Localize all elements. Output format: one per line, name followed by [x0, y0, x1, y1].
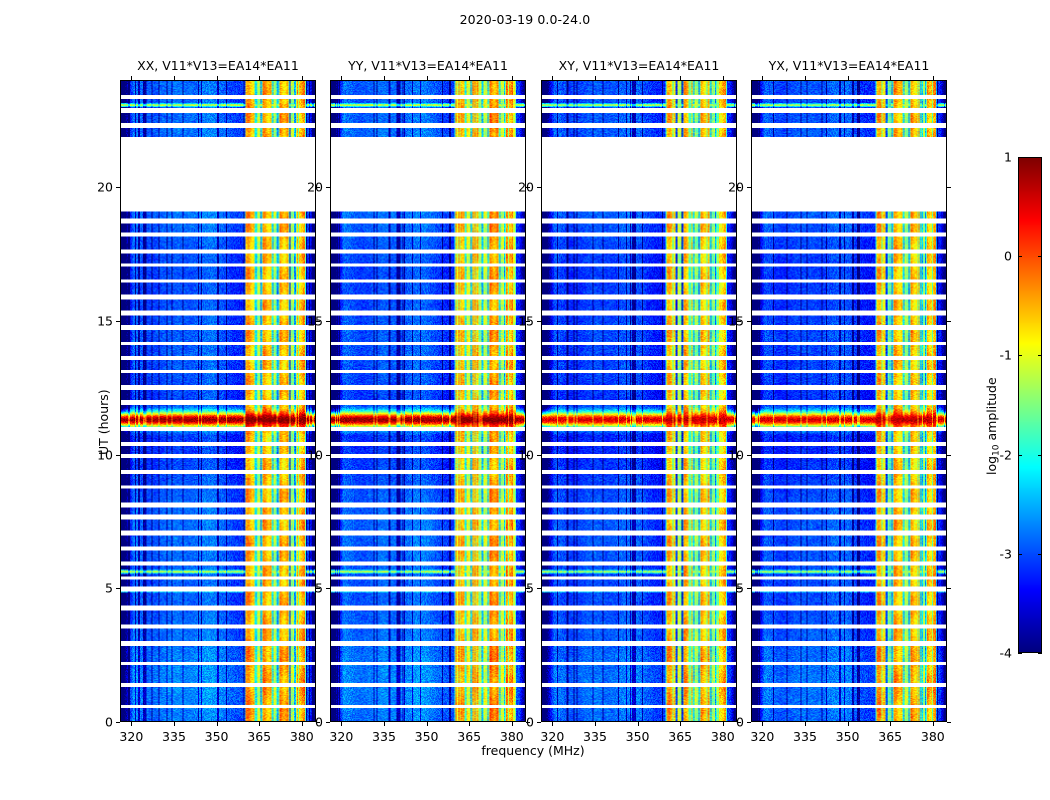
y-tick-mark: [116, 187, 120, 188]
figure-suptitle: 2020-03-19 0.0-24.0: [0, 12, 1050, 27]
x-tick-mark-top: [552, 76, 553, 80]
x-tick-mark-top: [933, 76, 934, 80]
x-tick-mark-top: [469, 76, 470, 80]
y-tick-mark: [326, 321, 330, 322]
x-tick-label: 365: [668, 729, 692, 744]
y-tick-mark: [537, 455, 541, 456]
x-tick-label: 350: [836, 729, 860, 744]
waterfall-image-yx: [752, 81, 946, 721]
colorbar-tick-label: 1: [982, 150, 1012, 165]
y-tick-mark: [116, 321, 120, 322]
x-tick-mark-top: [762, 76, 763, 80]
waterfall-image-xy: [542, 81, 736, 721]
x-tick-mark: [217, 722, 218, 726]
panel-title-yx: YX, V11*V13=EA14*EA11: [751, 58, 947, 73]
x-tick-mark: [552, 722, 553, 726]
y-tick-label: 15: [284, 313, 323, 328]
y-tick-mark: [116, 722, 120, 723]
x-tick-mark: [848, 722, 849, 726]
x-tick-label: 350: [626, 729, 650, 744]
colorbar-tick-label: -3: [982, 546, 1012, 561]
y-tick-label: 0: [495, 715, 534, 730]
x-tick-mark-top: [723, 76, 724, 80]
colorbar-label-sub: 10: [991, 444, 1001, 455]
y-tick-mark-right: [947, 455, 951, 456]
waterfall-image-xx: [121, 81, 315, 721]
colorbar-label-main: log: [984, 456, 999, 475]
x-tick-mark: [384, 722, 385, 726]
x-tick-mark: [638, 722, 639, 726]
x-tick-label: 380: [921, 729, 945, 744]
x-tick-mark: [933, 722, 934, 726]
y-tick-mark: [747, 588, 751, 589]
x-tick-mark-top: [217, 76, 218, 80]
y-tick-mark: [326, 722, 330, 723]
x-tick-mark: [762, 722, 763, 726]
y-tick-mark-right: [947, 588, 951, 589]
y-tick-label: 10: [495, 447, 534, 462]
x-tick-label: 335: [583, 729, 607, 744]
x-tick-mark: [469, 722, 470, 726]
colorbar[interactable]: [1018, 157, 1042, 653]
x-tick-label: 320: [329, 729, 353, 744]
x-tick-mark-top: [302, 76, 303, 80]
colorbar-tick-mark: [1038, 455, 1042, 456]
panel-title-yy: YY, V11*V13=EA14*EA11: [330, 58, 526, 73]
y-tick-mark: [747, 455, 751, 456]
waterfall-panel-xx[interactable]: [120, 80, 316, 722]
x-tick-mark-top: [174, 76, 175, 80]
x-tick-mark-top: [638, 76, 639, 80]
x-tick-mark-top: [680, 76, 681, 80]
y-tick-label: 10: [284, 447, 323, 462]
y-tick-mark: [747, 187, 751, 188]
y-tick-label: 5: [284, 581, 323, 596]
x-tick-label: 380: [290, 729, 314, 744]
y-tick-mark-right: [947, 187, 951, 188]
x-tick-label: 320: [119, 729, 143, 744]
x-tick-mark: [680, 722, 681, 726]
x-tick-mark-top: [890, 76, 891, 80]
y-tick-mark: [116, 455, 120, 456]
colorbar-tick-label: 0: [982, 249, 1012, 264]
colorbar-tick-mark: [1038, 256, 1042, 257]
colorbar-tick-mark-left: [1018, 157, 1022, 158]
y-tick-label: 20: [705, 180, 744, 195]
colorbar-tick-mark-left: [1018, 455, 1022, 456]
x-tick-mark-top: [848, 76, 849, 80]
y-tick-mark: [116, 588, 120, 589]
x-tick-label: 350: [415, 729, 439, 744]
x-tick-label: 365: [457, 729, 481, 744]
y-tick-label: 5: [705, 581, 744, 596]
y-tick-label: 15: [705, 313, 744, 328]
y-tick-label: 5: [74, 581, 113, 596]
panel-title-xx: XX, V11*V13=EA14*EA11: [120, 58, 316, 73]
x-tick-label: 335: [162, 729, 186, 744]
colorbar-label: log10 amplitude: [984, 377, 1001, 475]
y-axis-label: UT (hours): [96, 389, 111, 455]
x-tick-mark: [427, 722, 428, 726]
x-tick-label: 380: [500, 729, 524, 744]
waterfall-panel-yy[interactable]: [330, 80, 526, 722]
x-tick-mark-top: [427, 76, 428, 80]
x-tick-label: 365: [247, 729, 271, 744]
y-tick-label: 0: [705, 715, 744, 730]
x-tick-mark: [595, 722, 596, 726]
x-tick-mark: [131, 722, 132, 726]
x-tick-mark: [259, 722, 260, 726]
x-tick-label: 335: [372, 729, 396, 744]
y-tick-mark: [537, 722, 541, 723]
colorbar-tick-mark-left: [1018, 554, 1022, 555]
x-tick-mark: [805, 722, 806, 726]
colorbar-label-tail: amplitude: [984, 377, 999, 444]
x-tick-mark-top: [259, 76, 260, 80]
colorbar-tick-mark: [1038, 355, 1042, 356]
waterfall-image-yy: [331, 81, 525, 721]
y-tick-mark: [537, 321, 541, 322]
y-tick-label: 10: [705, 447, 744, 462]
x-tick-label: 350: [205, 729, 229, 744]
y-tick-mark: [747, 321, 751, 322]
y-tick-label: 20: [284, 180, 323, 195]
y-tick-label: 15: [74, 313, 113, 328]
x-tick-label: 320: [540, 729, 564, 744]
x-tick-mark: [174, 722, 175, 726]
colorbar-tick-mark: [1038, 157, 1042, 158]
colorbar-tick-mark-left: [1018, 256, 1022, 257]
x-tick-mark: [341, 722, 342, 726]
y-tick-label: 20: [74, 180, 113, 195]
y-tick-mark: [326, 588, 330, 589]
x-tick-mark-top: [595, 76, 596, 80]
colorbar-tick-mark: [1038, 653, 1042, 654]
y-tick-label: 0: [74, 715, 113, 730]
y-tick-label: 0: [284, 715, 323, 730]
y-tick-label: 5: [495, 581, 534, 596]
colorbar-tick-mark-left: [1018, 653, 1022, 654]
panel-title-xy: XY, V11*V13=EA14*EA11: [541, 58, 737, 73]
colorbar-tick-mark-left: [1018, 355, 1022, 356]
colorbar-tick-label: -1: [982, 348, 1012, 363]
y-tick-mark: [326, 455, 330, 456]
colorbar-tick-mark: [1038, 554, 1042, 555]
y-tick-label: 20: [495, 180, 534, 195]
x-tick-mark: [890, 722, 891, 726]
y-tick-mark-right: [947, 321, 951, 322]
x-tick-mark-top: [384, 76, 385, 80]
y-tick-mark: [747, 722, 751, 723]
x-axis-label: frequency (MHz): [333, 743, 733, 758]
y-tick-mark: [537, 588, 541, 589]
x-tick-mark-top: [131, 76, 132, 80]
figure-root: 2020-03-19 0.0-24.0 XX, V11*V13=EA14*EA1…: [0, 0, 1050, 800]
colorbar-tick-label: -4: [982, 646, 1012, 661]
x-tick-mark-top: [512, 76, 513, 80]
x-tick-label: 320: [750, 729, 774, 744]
x-tick-mark-top: [341, 76, 342, 80]
waterfall-panel-xy[interactable]: [541, 80, 737, 722]
x-tick-label: 335: [793, 729, 817, 744]
y-tick-mark: [326, 187, 330, 188]
x-tick-label: 380: [711, 729, 735, 744]
waterfall-panel-yx[interactable]: [751, 80, 947, 722]
x-tick-label: 365: [878, 729, 902, 744]
y-tick-label: 15: [495, 313, 534, 328]
y-tick-mark: [537, 187, 541, 188]
x-tick-mark-top: [805, 76, 806, 80]
y-tick-mark-right: [947, 722, 951, 723]
